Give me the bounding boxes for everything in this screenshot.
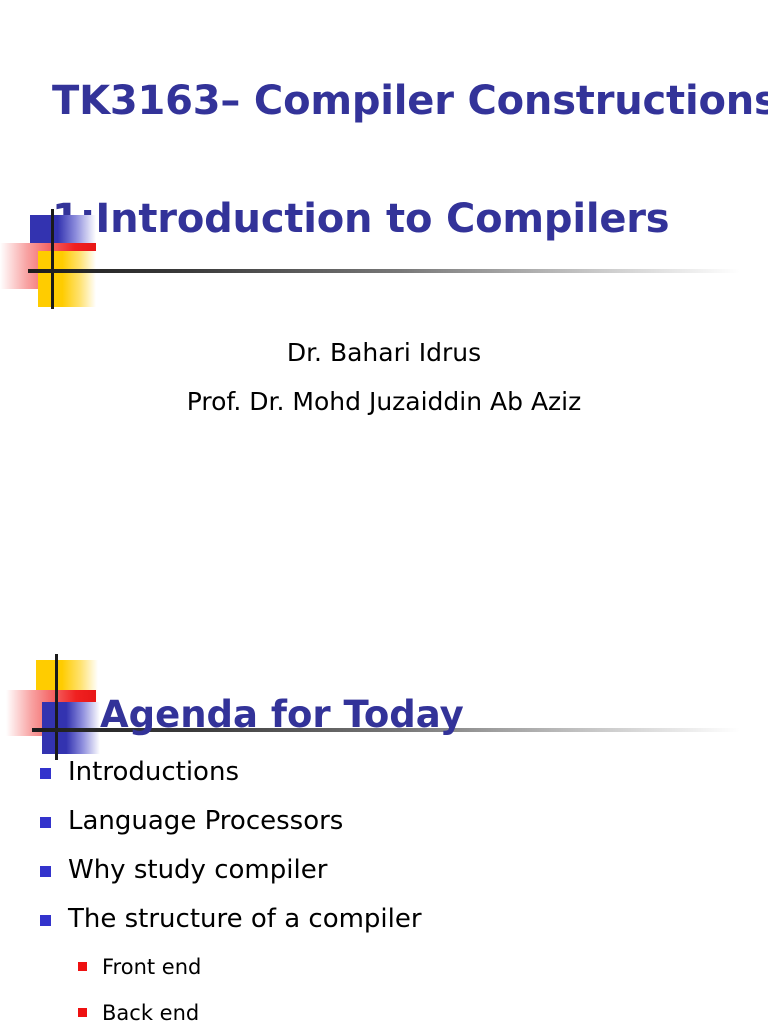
vertical-rule xyxy=(55,654,58,760)
list-item-label: The structure of a compiler xyxy=(68,904,422,934)
square-bullet-icon xyxy=(40,915,51,926)
red-square-icon xyxy=(6,690,96,736)
square-bullet-icon xyxy=(40,768,51,779)
yellow-square-icon xyxy=(36,660,98,708)
list-item-label: Why study compiler xyxy=(68,855,327,885)
list-item-label: Language Processors xyxy=(68,806,343,836)
page-title: TK3163– Compiler Constructions xyxy=(52,73,752,129)
list-item: Back end xyxy=(76,990,758,1036)
square-bullet-icon xyxy=(40,817,51,828)
horizontal-rule xyxy=(28,269,740,273)
list-item: Language Processors xyxy=(38,797,758,846)
agenda-bullet-list: Introductions Language Processors Why st… xyxy=(38,748,758,1036)
slide-deck-page: TK3163– Compiler Constructions 1:Introdu… xyxy=(0,0,768,1024)
list-item: Front end xyxy=(76,944,758,990)
agenda-sub-bullet-list: Front end Back end xyxy=(38,944,758,1036)
presenter-name: Prof. Dr. Mohd Juzaiddin Ab Aziz xyxy=(0,377,768,426)
yellow-square-icon xyxy=(38,251,96,307)
list-item: Why study compiler xyxy=(38,846,758,895)
red-square-icon xyxy=(0,243,96,289)
list-item: Introductions xyxy=(38,748,758,797)
square-bullet-icon xyxy=(40,866,51,877)
list-item-label: Front end xyxy=(102,955,201,979)
list-item: The structure of a compiler xyxy=(38,895,758,944)
slide-agenda: Agenda for Today Introductions Language … xyxy=(0,640,768,1024)
presenter-name: Dr. Bahari Idrus xyxy=(0,328,768,377)
list-item-label: Introductions xyxy=(68,757,239,787)
square-bullet-icon xyxy=(78,962,87,971)
slide-heading: Agenda for Today xyxy=(100,689,464,741)
presenter-list: Dr. Bahari Idrus Prof. Dr. Mohd Juzaiddi… xyxy=(0,328,768,426)
list-item-label: Back end xyxy=(102,1001,199,1025)
slide-title: TK3163– Compiler Constructions 1:Introdu… xyxy=(0,0,768,640)
blue-square-icon xyxy=(42,702,100,754)
square-bullet-icon xyxy=(78,1008,87,1017)
chapter-title: 1:Introduction to Compilers xyxy=(52,191,752,247)
